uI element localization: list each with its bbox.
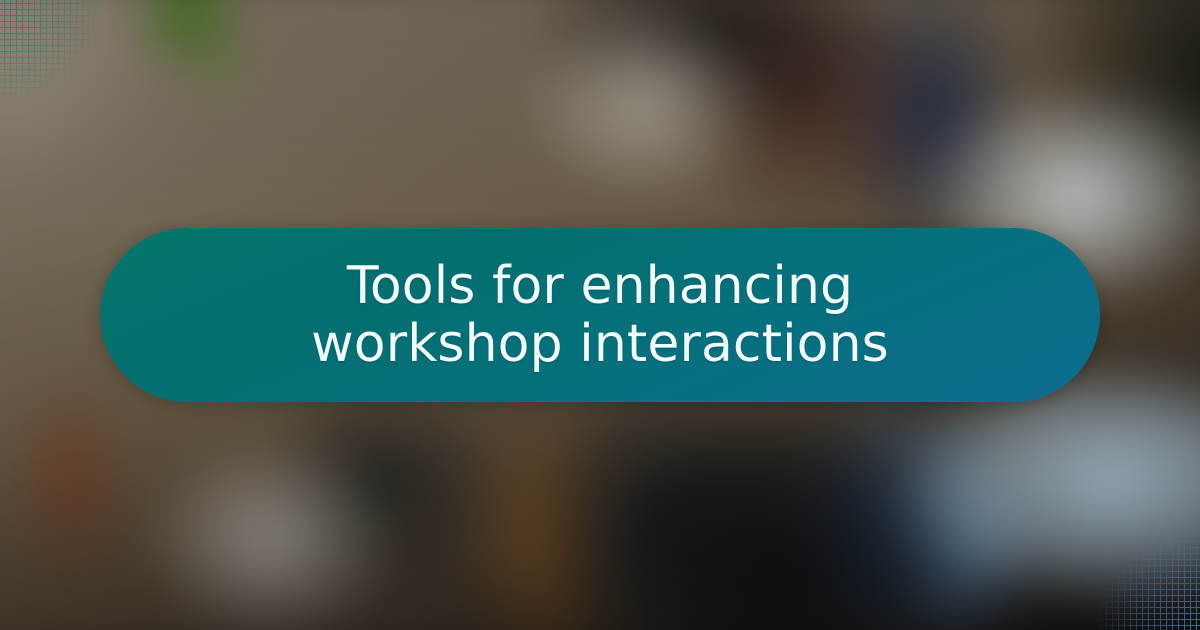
page-title: Tools for enhancing workshop interaction… <box>230 257 970 373</box>
title-pill: Tools for enhancing workshop interaction… <box>100 228 1100 402</box>
banner-canvas: Tools for enhancing workshop interaction… <box>0 0 1200 630</box>
